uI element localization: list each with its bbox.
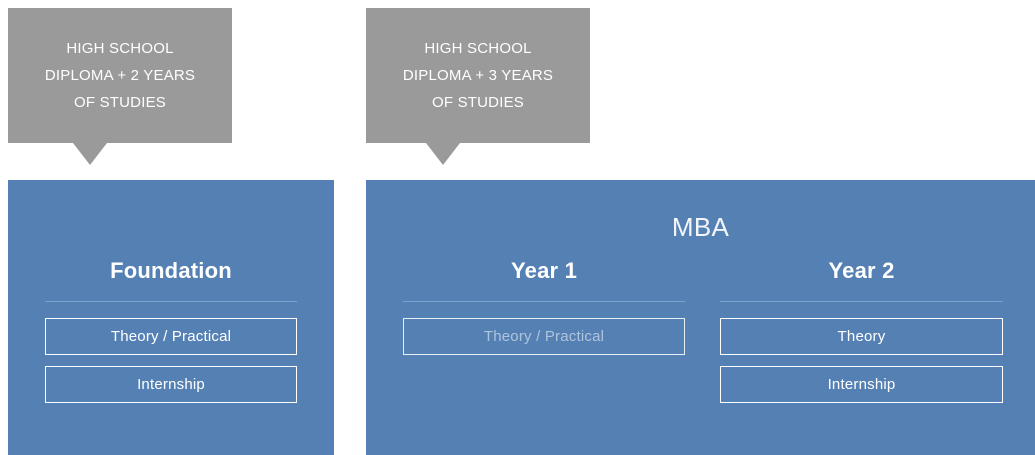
column-divider: [403, 301, 685, 302]
callout-line: OF STUDIES: [432, 89, 524, 116]
column-divider: [45, 301, 297, 302]
column-foundation: Foundation Theory / Practical Internship: [45, 258, 297, 403]
item-box-internship[interactable]: Internship: [45, 366, 297, 403]
callout-mba-prerequisite: HIGH SCHOOL DIPLOMA + 3 YEARS OF STUDIES: [366, 8, 590, 143]
diagram-canvas: HIGH SCHOOL DIPLOMA + 2 YEARS OF STUDIES…: [0, 0, 1035, 455]
item-list-foundation: Theory / Practical Internship: [45, 318, 297, 403]
panel-foundation: Foundation Theory / Practical Internship: [8, 180, 334, 455]
item-box-theory-practical[interactable]: Theory / Practical: [403, 318, 685, 355]
callout-line: HIGH SCHOOL: [66, 35, 173, 62]
callout-tail-icon: [73, 143, 107, 165]
callout-line: DIPLOMA + 3 YEARS: [403, 62, 553, 89]
column-year-1: Year 1 Theory / Practical: [403, 258, 685, 355]
callout-line: DIPLOMA + 2 YEARS: [45, 62, 195, 89]
column-heading-year-2: Year 2: [720, 258, 1003, 284]
column-heading-year-1: Year 1: [403, 258, 685, 284]
column-heading-foundation: Foundation: [45, 258, 297, 284]
callout-tail-icon: [426, 143, 460, 165]
callout-line: OF STUDIES: [74, 89, 166, 116]
item-box-internship[interactable]: Internship: [720, 366, 1003, 403]
panel-title-mba: MBA: [366, 212, 1035, 243]
callout-line: HIGH SCHOOL: [424, 35, 531, 62]
item-list-year-2: Theory Internship: [720, 318, 1003, 403]
column-divider: [720, 301, 1003, 302]
item-box-theory-practical[interactable]: Theory / Practical: [45, 318, 297, 355]
column-year-2: Year 2 Theory Internship: [720, 258, 1003, 403]
panel-mba: MBA Year 1 Theory / Practical Year 2 The…: [366, 180, 1035, 455]
item-box-theory[interactable]: Theory: [720, 318, 1003, 355]
item-list-year-1: Theory / Practical: [403, 318, 685, 355]
callout-foundation-prerequisite: HIGH SCHOOL DIPLOMA + 2 YEARS OF STUDIES: [8, 8, 232, 143]
